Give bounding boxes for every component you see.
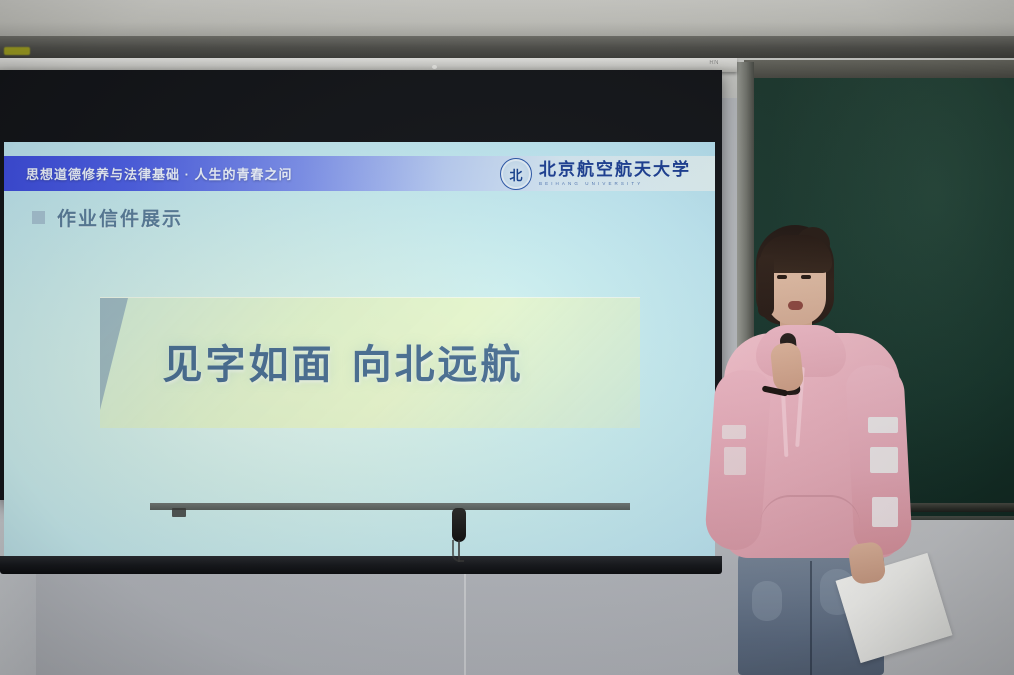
screen-bracket — [172, 508, 186, 517]
eye-left — [777, 275, 787, 279]
mouth — [788, 301, 803, 310]
panel-corner-accent — [100, 298, 128, 410]
slide-header: 思想道德修养与法律基础 · 人生的青春之问 北 北京航空航天大学 BEIHANG… — [4, 156, 715, 191]
screen-case-dot — [432, 65, 437, 69]
slide-headline: 见字如面 向北远航 — [128, 332, 558, 390]
university-logo: 北 北京航空航天大学 BEIHANG UNIVERSITY — [500, 158, 691, 190]
sleeve-print-mid-right — [870, 447, 898, 473]
jeans-fade-left — [752, 581, 782, 621]
hand-holding-microphone — [770, 342, 805, 393]
university-name-en: BEIHANG UNIVERSITY — [539, 182, 691, 187]
jeans-seam — [810, 561, 812, 675]
projection-screen-surface: 思想道德修养与法律基础 · 人生的青春之问 北 北京航空航天大学 BEIHANG… — [4, 142, 715, 556]
slide-course-title: 思想道德修养与法律基础 · 人生的青春之问 — [26, 164, 293, 183]
screen-bottom-bar — [0, 556, 722, 574]
screen-rail — [150, 503, 630, 510]
wall-seam — [464, 560, 466, 675]
ledge-object — [4, 47, 30, 55]
presenter — [700, 225, 930, 675]
university-name-cn: 北京航空航天大学 — [539, 162, 691, 179]
bullet-square-icon — [32, 211, 45, 224]
university-logo-text: 北京航空航天大学 BEIHANG UNIVERSITY — [539, 162, 691, 187]
screen-cable — [458, 540, 460, 562]
sleeve-print-lower-left — [724, 447, 746, 475]
hoodie-pocket — [760, 495, 860, 553]
hand-holding-paper — [847, 541, 886, 585]
screen-case-label: RN — [709, 60, 719, 66]
sleeve-print-upper-right — [868, 417, 898, 433]
eye-right — [801, 275, 811, 279]
screen-pull-weight — [452, 508, 466, 542]
ceiling — [0, 0, 1014, 40]
slide-bullet-row: 作业信件展示 — [32, 204, 183, 231]
projection-screen-frame: 思想道德修养与法律基础 · 人生的青春之问 北 北京航空航天大学 BEIHANG… — [0, 70, 722, 500]
slide-bullet-label: 作业信件展示 — [57, 204, 183, 231]
sleeve-print-upper-left — [722, 425, 746, 439]
sleeve-print-lower-right — [872, 497, 898, 527]
hair-side — [758, 255, 774, 317]
university-seal-icon: 北 — [500, 158, 532, 190]
classroom-photo: RN 思想道德修养与法律基础 · 人生的青春之问 北 北京航空航天大学 BEIH… — [0, 0, 1014, 675]
